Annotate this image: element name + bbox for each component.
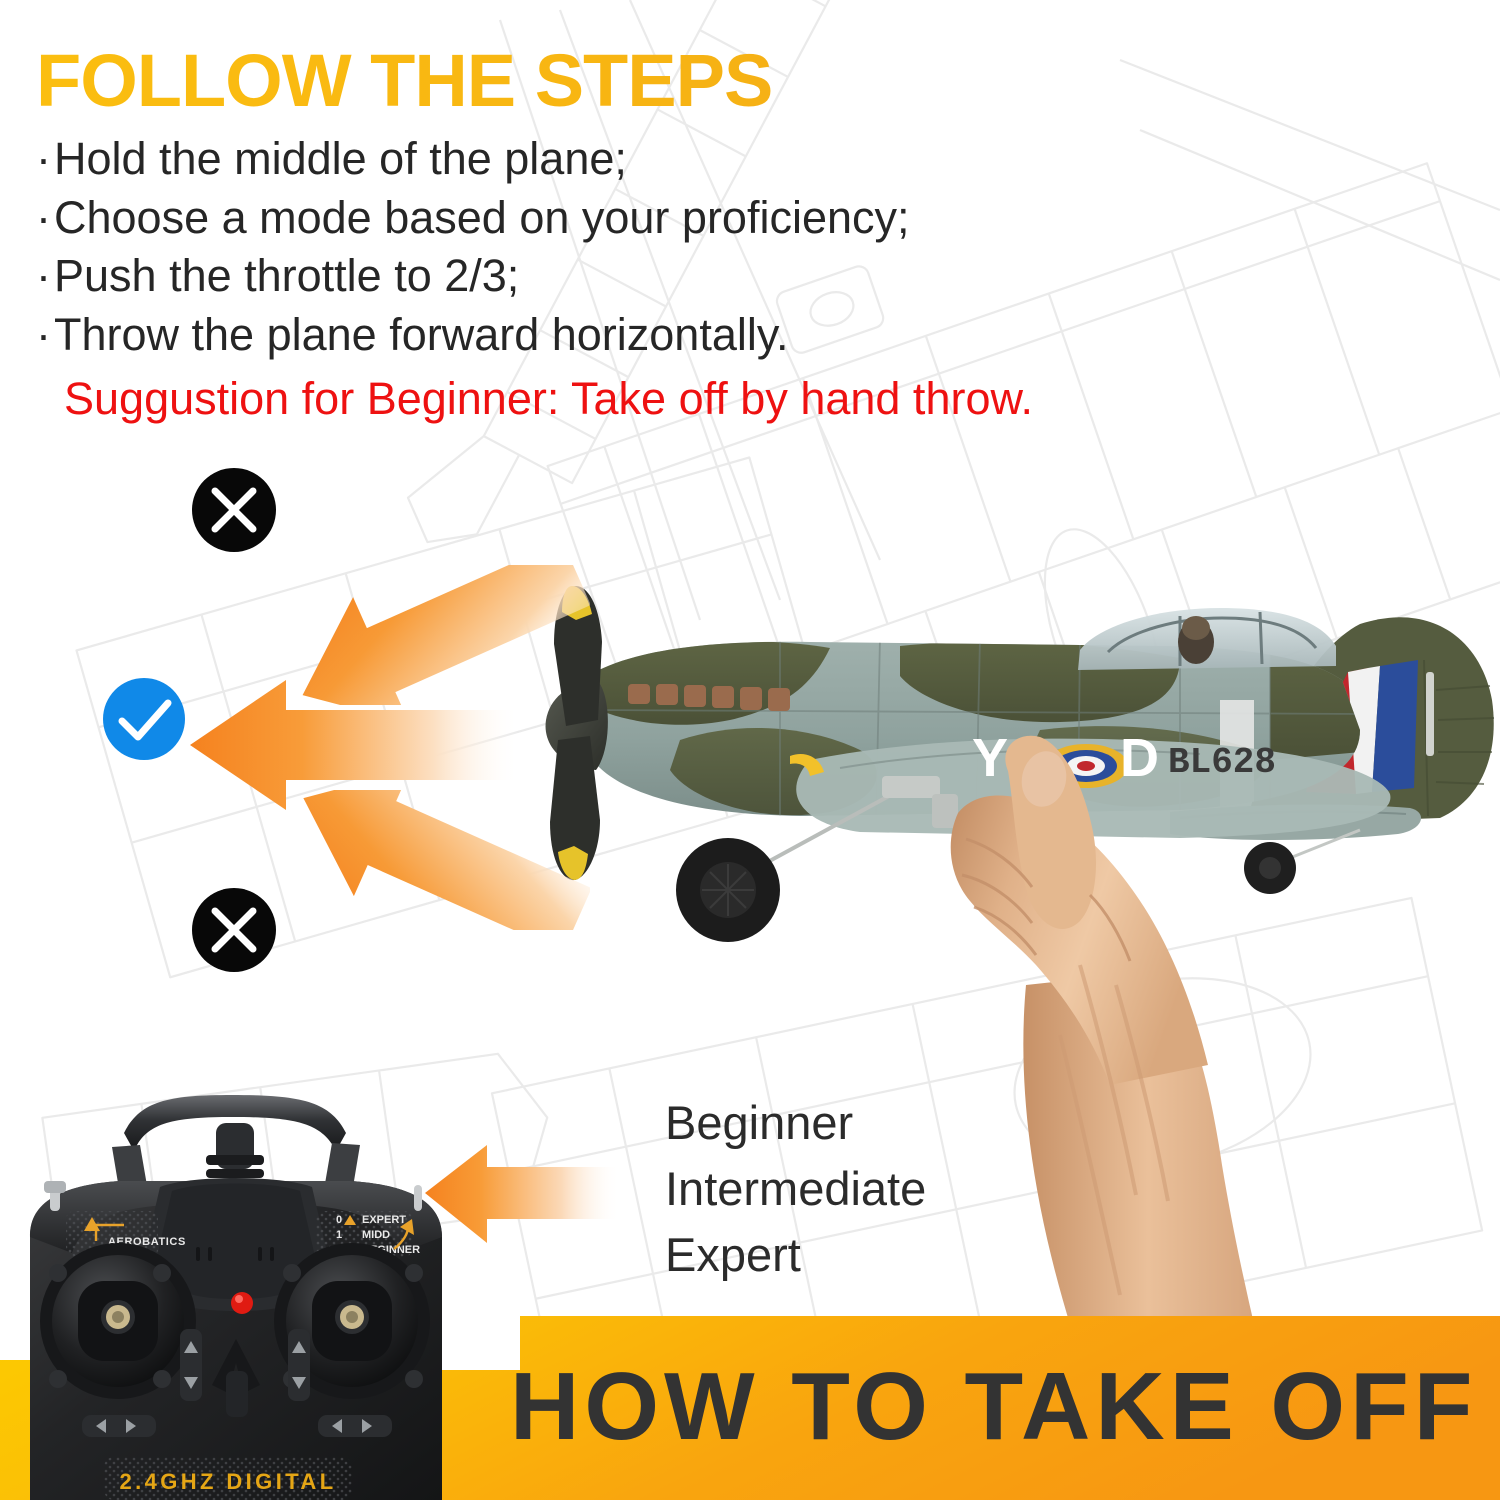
step-item: ·Throw the plane forward horizontally. <box>36 306 1236 365</box>
steps-list: ·Hold the middle of the plane; ·Choose a… <box>36 130 1236 364</box>
arrow-down-left-wrong <box>290 790 590 930</box>
switch-label-midd: MIDD <box>362 1229 390 1241</box>
page-title: FOLLOW THE STEPS <box>36 44 1236 118</box>
bullet-icon: · <box>36 130 54 189</box>
wrong-mark-top-icon <box>192 468 276 552</box>
step-text: Push the throttle to 2/3; <box>54 250 519 301</box>
step-item: ·Push the throttle to 2/3; <box>36 247 1236 306</box>
wrong-mark-bottom-icon <box>192 888 276 972</box>
transmitter-brand-text: 2.4GHZ DIGITAL <box>119 1469 336 1494</box>
mode-label-beginner: Beginner <box>665 1090 926 1156</box>
rc-transmitter: AEROBATICS 0 EXPERT 1 MIDD 2 BEGINNER <box>0 1085 470 1500</box>
bullet-icon: · <box>36 189 54 248</box>
infographic-canvas: FOLLOW THE STEPS ·Hold the middle of the… <box>0 0 1500 1500</box>
switch-num-1: 1 <box>336 1229 342 1241</box>
banner-title: HOW TO TAKE OFF <box>510 1352 1500 1462</box>
switch-label-expert: EXPERT <box>362 1214 406 1226</box>
headline-block: FOLLOW THE STEPS ·Hold the middle of the… <box>36 44 1236 429</box>
bullet-icon: · <box>36 306 54 365</box>
step-item: ·Choose a mode based on your proficiency… <box>36 189 1236 248</box>
beginner-suggestion-note: Suggustion for Beginner: Take off by han… <box>64 370 1236 429</box>
bullet-icon: · <box>36 247 54 306</box>
step-text: Hold the middle of the plane; <box>54 133 627 184</box>
step-item: ·Hold the middle of the plane; <box>36 130 1236 189</box>
switch-num-0: 0 <box>336 1214 342 1226</box>
correct-mark-icon <box>103 678 185 760</box>
step-text: Choose a mode based on your proficiency; <box>54 192 910 243</box>
step-text: Throw the plane forward horizontally. <box>54 309 789 360</box>
